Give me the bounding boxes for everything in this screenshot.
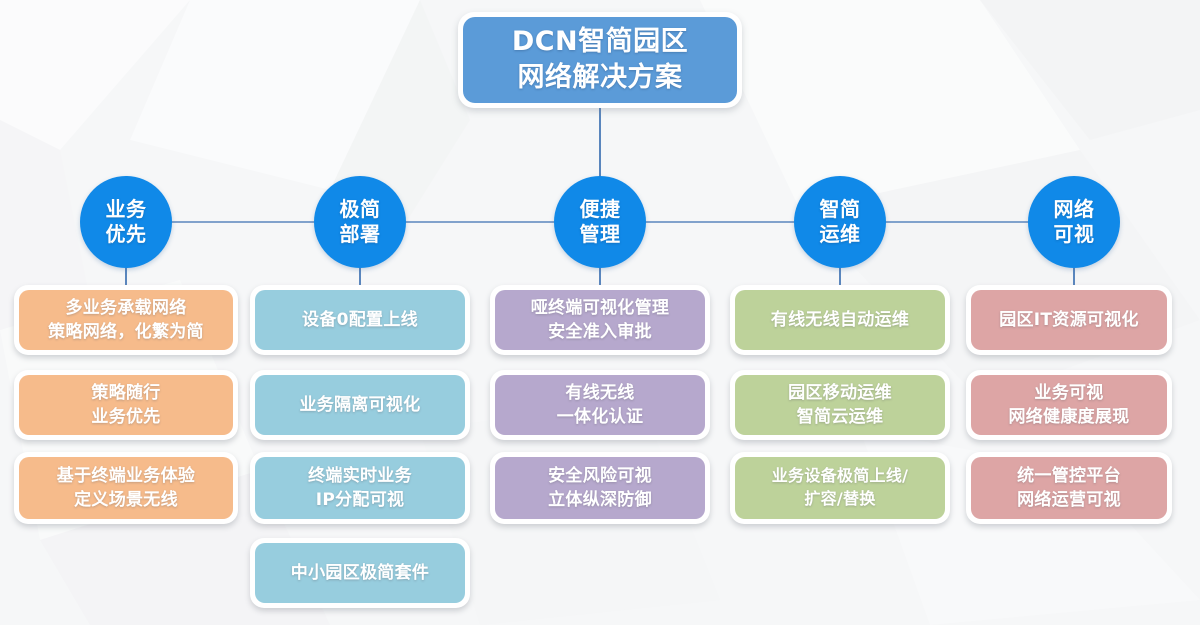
card-col4-row3[interactable]: 业务设备极简上线/ 扩容/替换 xyxy=(730,452,950,524)
card-col2-row2[interactable]: 业务隔离可视化 xyxy=(250,370,470,440)
card-line: 设备0配置上线 xyxy=(302,308,418,332)
diagram-title-box: DCN智简园区 网络解决方案 xyxy=(458,12,742,108)
pillar-simple-deploy[interactable]: 极简 部署 xyxy=(314,176,406,268)
pillar-label-line-2: 优先 xyxy=(106,222,147,247)
card-col5-row1[interactable]: 园区IT资源可视化 xyxy=(966,285,1172,355)
card-col2-row1[interactable]: 设备0配置上线 xyxy=(250,285,470,355)
card-line: 哑终端可视化管理 xyxy=(531,296,669,320)
card-line: IP分配可视 xyxy=(316,488,405,512)
card-line: 园区IT资源可视化 xyxy=(999,308,1139,332)
card-col3-row2-inner: 有线无线 一体化认证 xyxy=(495,375,705,435)
diagram-title-inner: DCN智简园区 网络解决方案 xyxy=(463,17,737,103)
card-line: 有线无线 xyxy=(565,381,634,405)
card-col5-row3[interactable]: 统一管控平台 网络运营可视 xyxy=(966,452,1172,524)
pillar-label-line-1: 业务 xyxy=(106,197,147,222)
card-col5-row1-inner: 园区IT资源可视化 xyxy=(971,290,1167,350)
card-col2-row1-inner: 设备0配置上线 xyxy=(255,290,465,350)
card-line: 中小园区极简套件 xyxy=(291,561,429,585)
card-line: 安全准入审批 xyxy=(548,320,652,344)
card-col1-row3[interactable]: 基于终端业务体验 定义场景无线 xyxy=(14,452,238,524)
card-col3-row3-inner: 安全风险可视 立体纵深防御 xyxy=(495,457,705,519)
card-col4-row3-inner: 业务设备极简上线/ 扩容/替换 xyxy=(735,457,945,519)
card-line: 策略随行 xyxy=(91,381,160,405)
card-line: 终端实时业务 xyxy=(308,464,412,488)
pillar-label-line-2: 可视 xyxy=(1054,222,1095,247)
card-line: 一体化认证 xyxy=(557,405,644,429)
card-line: 有线无线自动运维 xyxy=(771,308,909,332)
card-col2-row3-inner: 终端实时业务 IP分配可视 xyxy=(255,457,465,519)
card-line: 网络运营可视 xyxy=(1017,488,1121,512)
card-col2-row3[interactable]: 终端实时业务 IP分配可视 xyxy=(250,452,470,524)
card-col1-row1-inner: 多业务承载网络 策略网络，化繁为简 xyxy=(19,290,233,350)
card-col1-row3-inner: 基于终端业务体验 定义场景无线 xyxy=(19,457,233,519)
card-col1-row2[interactable]: 策略随行 业务优先 xyxy=(14,370,238,440)
card-line: 立体纵深防御 xyxy=(548,488,652,512)
card-line: 统一管控平台 xyxy=(1017,464,1121,488)
title-line-1: DCN智简园区 xyxy=(512,24,688,60)
pillar-network-view[interactable]: 网络 可视 xyxy=(1028,176,1120,268)
card-line: 安全风险可视 xyxy=(548,464,652,488)
card-col3-row3[interactable]: 安全风险可视 立体纵深防御 xyxy=(490,452,710,524)
card-col5-row3-inner: 统一管控平台 网络运营可视 xyxy=(971,457,1167,519)
card-col1-row2-inner: 策略随行 业务优先 xyxy=(19,375,233,435)
card-col3-row1[interactable]: 哑终端可视化管理 安全准入审批 xyxy=(490,285,710,355)
card-col2-row4-inner: 中小园区极简套件 xyxy=(255,543,465,603)
pillar-business-first[interactable]: 业务 优先 xyxy=(80,176,172,268)
pillar-smart-ops[interactable]: 智简 运维 xyxy=(794,176,886,268)
card-line: 网络健康度展现 xyxy=(1008,405,1129,429)
card-col4-row1[interactable]: 有线无线自动运维 xyxy=(730,285,950,355)
pillar-label-line-1: 网络 xyxy=(1054,197,1095,222)
title-line-2: 网络解决方案 xyxy=(518,60,683,96)
card-line: 定义场景无线 xyxy=(74,488,178,512)
card-line: 业务设备极简上线/ xyxy=(772,465,909,488)
pillar-label-line-2: 管理 xyxy=(580,222,621,247)
card-line: 智简云运维 xyxy=(797,405,884,429)
pillar-label-line-2: 运维 xyxy=(820,222,861,247)
card-line: 策略网络，化繁为简 xyxy=(48,320,204,344)
card-col4-row2-inner: 园区移动运维 智简云运维 xyxy=(735,375,945,435)
pillar-label-line-1: 极简 xyxy=(340,197,381,222)
card-col2-row2-inner: 业务隔离可视化 xyxy=(255,375,465,435)
card-line: 园区移动运维 xyxy=(788,381,892,405)
card-col3-row1-inner: 哑终端可视化管理 安全准入审批 xyxy=(495,290,705,350)
pillar-label-line-1: 便捷 xyxy=(580,197,621,222)
card-line: 基于终端业务体验 xyxy=(57,464,195,488)
pillar-label-line-2: 部署 xyxy=(340,222,381,247)
card-col1-row1[interactable]: 多业务承载网络 策略网络，化繁为简 xyxy=(14,285,238,355)
card-line: 业务优先 xyxy=(91,405,160,429)
diagram-canvas: DCN智简园区 网络解决方案 业务 优先 极简 部署 便捷 管理 智简 运维 网… xyxy=(0,0,1200,625)
card-line: 扩容/替换 xyxy=(804,488,875,511)
card-col3-row2[interactable]: 有线无线 一体化认证 xyxy=(490,370,710,440)
card-col2-row4[interactable]: 中小园区极简套件 xyxy=(250,538,470,608)
card-line: 多业务承载网络 xyxy=(65,296,186,320)
card-col5-row2[interactable]: 业务可视 网络健康度展现 xyxy=(966,370,1172,440)
card-col4-row2[interactable]: 园区移动运维 智简云运维 xyxy=(730,370,950,440)
pillar-label-line-1: 智简 xyxy=(820,197,861,222)
card-col5-row2-inner: 业务可视 网络健康度展现 xyxy=(971,375,1167,435)
pillar-easy-manage[interactable]: 便捷 管理 xyxy=(554,176,646,268)
card-line: 业务隔离可视化 xyxy=(299,393,420,417)
card-line: 业务可视 xyxy=(1034,381,1103,405)
card-col4-row1-inner: 有线无线自动运维 xyxy=(735,290,945,350)
